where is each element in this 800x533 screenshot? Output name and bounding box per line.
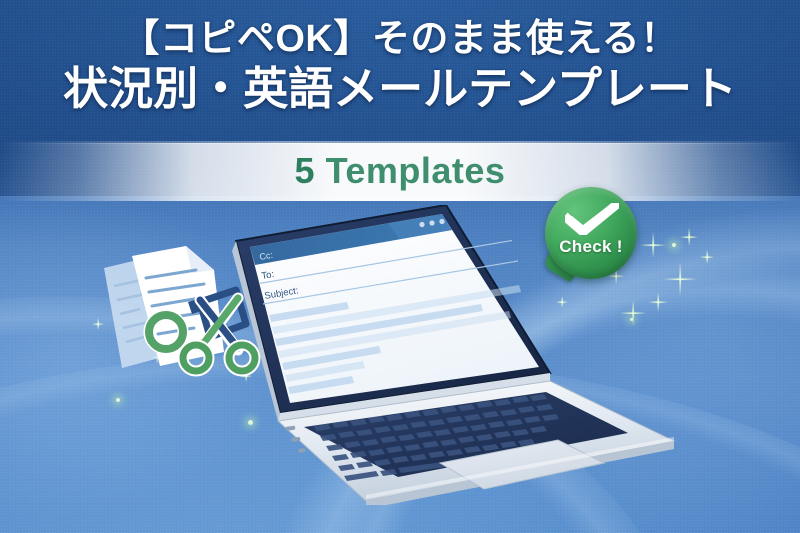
banner-canvas: 【コピペOK】そのまま使える！ 状況別・英語メールテンプレート 5 Templa… <box>0 0 800 533</box>
laptop-illustration: Cc: To: Subject: <box>228 205 680 505</box>
headline-block: 【コピペOK】そのまま使える！ 状況別・英語メールテンプレート <box>0 20 800 111</box>
templates-count: 5 <box>295 150 316 191</box>
headline-line-1: 【コピペOK】そのまま使える！ <box>0 20 800 58</box>
sparkle-dot-icon <box>116 398 120 402</box>
field-label-to: To: <box>261 269 275 282</box>
headline-line-2: 状況別・英語メールテンプレート <box>0 66 800 111</box>
templates-count-label: 5 Templates <box>0 150 800 192</box>
templates-word: Templates <box>326 150 506 191</box>
